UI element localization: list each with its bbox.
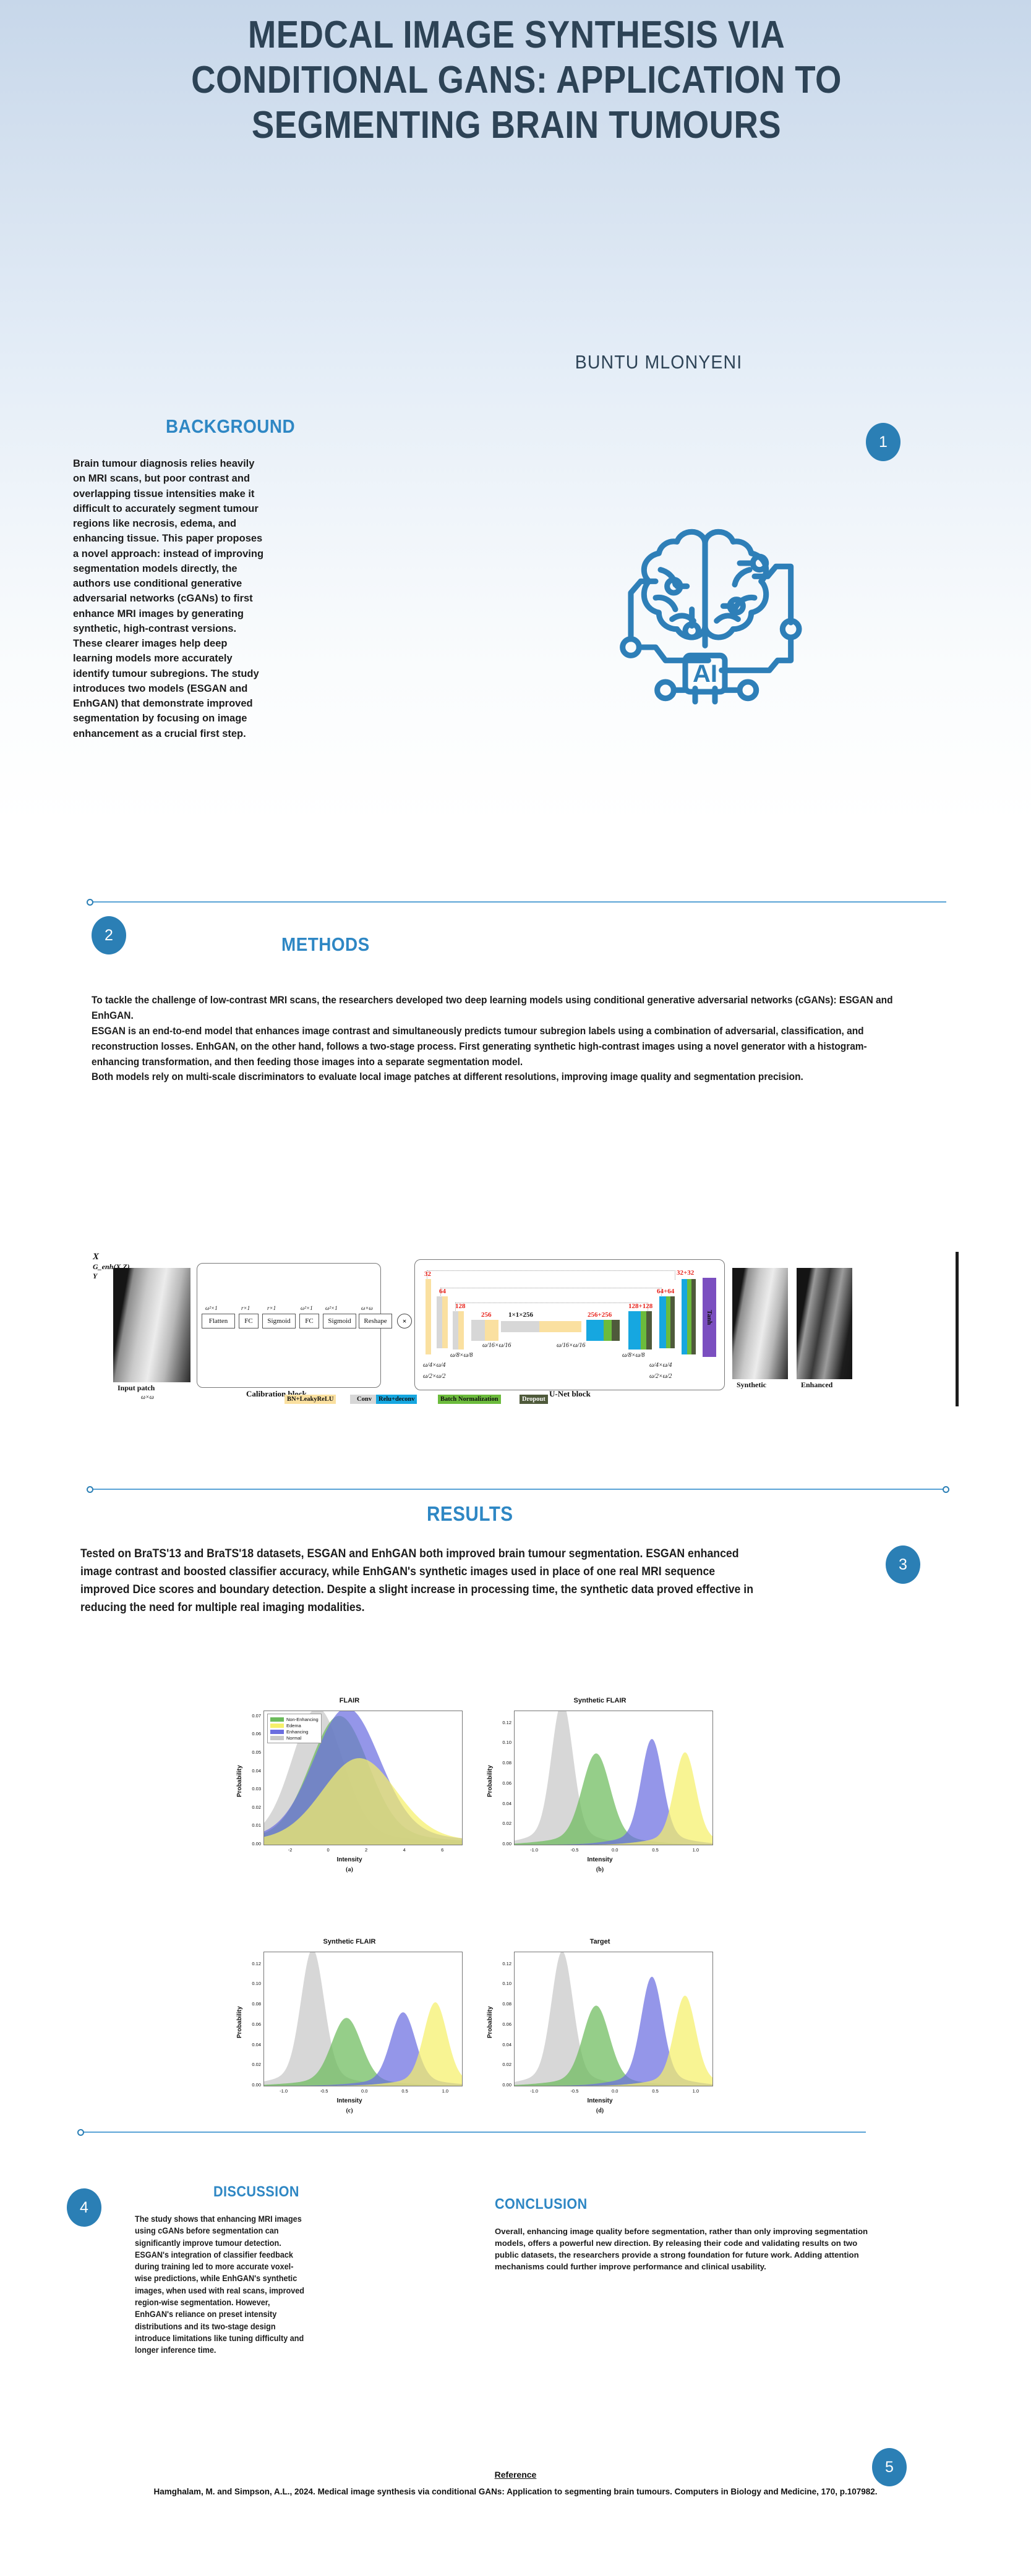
chart-y-tick: 0.08 xyxy=(493,1760,511,1766)
chart-x-tick: 0.0 xyxy=(354,2088,374,2094)
chart-series-layer xyxy=(515,1952,712,2086)
author-name: BUNTU MLONYENI xyxy=(406,351,912,373)
calib-step-sigmoid2: Sigmoid xyxy=(323,1314,356,1328)
multiply-node: × xyxy=(397,1314,412,1328)
section-heading-methods: METHODS xyxy=(281,933,370,956)
legend-dropout: Dropout xyxy=(520,1395,548,1404)
architecture-figure: X Input patch ω×ω ω²×1 Flatten r×1 FC r×… xyxy=(93,1252,959,1406)
legend-batch-normalization: Batch Normalization xyxy=(438,1395,501,1404)
methods-text: To tackle the challenge of low-contrast … xyxy=(92,993,909,1085)
res-label-1: ω/4×ω/4 xyxy=(423,1362,445,1369)
page-title: MEDCAL IMAGE SYNTHESIS VIA CONDITIONAL G… xyxy=(160,12,873,148)
dec-deconv-64 xyxy=(659,1296,666,1348)
legend-bn-leakyrelu: BN+LeakyReLU xyxy=(284,1395,336,1404)
chart-y-tick: 0.08 xyxy=(493,2001,511,2007)
chart-synthetic-flair-c: Synthetic FLAIR0.000.020.040.060.080.100… xyxy=(229,1938,470,2123)
chart-plot-area xyxy=(263,1952,463,2086)
chart-x-axis-label: Intensity xyxy=(479,1856,721,1863)
bottleneck-conv xyxy=(501,1321,539,1332)
methods-paragraph: Both models rely on multi-scale discrimi… xyxy=(92,1069,909,1085)
res-label-0b: ω/2×ω/2 xyxy=(649,1373,672,1380)
figure-input-dim: ω×ω xyxy=(141,1394,154,1401)
chart-series-layer xyxy=(515,1711,712,1845)
chart-x-tick: 1.0 xyxy=(435,2088,455,2094)
bottleneck-bn xyxy=(539,1321,581,1332)
chart-x-tick: 0.0 xyxy=(605,1847,625,1853)
legend-conv: Conv xyxy=(350,1395,379,1404)
chart-y-tick: 0.12 xyxy=(493,1961,511,1966)
res-label-0: ω/2×ω/2 xyxy=(423,1373,445,1380)
chart-y-tick: 0.10 xyxy=(493,1981,511,1986)
section-heading-discussion: DISCUSSION xyxy=(213,2183,299,2201)
chart-x-axis-label: Intensity xyxy=(229,2098,470,2104)
dec-deconv-128 xyxy=(628,1311,641,1350)
calib-step-fc2: FC xyxy=(299,1314,319,1328)
dec-dropout-128 xyxy=(646,1311,652,1350)
chart-x-tick: 0.5 xyxy=(646,1847,665,1853)
chart-y-tick: 0.03 xyxy=(242,1786,261,1792)
chart-y-tick: 0.08 xyxy=(242,2001,261,2007)
chart-legend: Non-EnhancingEdemaEnhancingNormal xyxy=(267,1714,322,1743)
conclusion-text: Overall, enhancing image quality before … xyxy=(495,2225,872,2272)
chart-flair: FLAIR0.000.010.020.030.040.050.060.07-20… xyxy=(229,1697,470,1882)
chart-x-tick: -1.0 xyxy=(274,2088,294,2094)
chart-x-tick: 0 xyxy=(319,1847,338,1853)
enhanced-mri-image xyxy=(797,1268,852,1379)
chart-y-tick: 0.02 xyxy=(242,1804,261,1810)
chart-y-tick: 0.12 xyxy=(493,1720,511,1725)
figure-right-border xyxy=(956,1252,959,1406)
chart-x-tick: 4 xyxy=(395,1847,414,1853)
calib-step-sigmoid1: Sigmoid xyxy=(262,1314,296,1328)
chart-x-tick: 6 xyxy=(432,1847,452,1853)
skip-connection-1 xyxy=(427,1270,675,1280)
section-heading-background: BACKGROUND xyxy=(166,415,295,438)
enc-ch-32: 32 xyxy=(424,1270,431,1278)
poster-canvas: MEDCAL IMAGE SYNTHESIS VIA CONDITIONAL G… xyxy=(0,0,1031,2576)
chart-title: Synthetic FLAIR xyxy=(229,1938,470,1945)
badge-3: 3 xyxy=(886,1545,920,1584)
dec-ch-64: 64+64 xyxy=(657,1288,674,1295)
chart-legend-swatch xyxy=(270,1724,284,1728)
chart-y-tick: 0.04 xyxy=(242,1768,261,1774)
enc-conv-64 xyxy=(437,1296,442,1348)
calib-size-1: r×1 xyxy=(241,1305,250,1311)
svg-text:AI: AI xyxy=(693,660,717,687)
enc-ch-128: 128 xyxy=(455,1303,466,1310)
section-heading-conclusion: CONCLUSION xyxy=(495,2196,588,2213)
chart-y-tick: 0.02 xyxy=(493,1821,511,1826)
background-text: Brain tumour diagnosis relies heavily on… xyxy=(73,456,265,741)
synthetic-mri-image xyxy=(732,1268,788,1379)
calib-step-reshape: Reshape xyxy=(359,1314,392,1328)
chart-legend-label: Edema xyxy=(286,1723,301,1728)
dec-bn-256 xyxy=(604,1320,612,1341)
chart-target: Target0.000.020.040.060.080.100.12-1.0-0… xyxy=(479,1938,721,2123)
chart-x-tick: -0.5 xyxy=(565,2088,584,2094)
chart-y-tick: 0.00 xyxy=(242,1841,261,1847)
dec-dropout-32 xyxy=(691,1279,696,1354)
methods-paragraph: ESGAN is an end-to-end model that enhanc… xyxy=(92,1024,909,1070)
chart-x-tick: -1.0 xyxy=(524,1847,544,1853)
enc-bar-32 xyxy=(426,1279,431,1354)
chart-panel-id: (a) xyxy=(229,1866,470,1873)
input-mri-image xyxy=(113,1268,190,1382)
chart-x-tick: 2 xyxy=(356,1847,376,1853)
enc-conv-256 xyxy=(471,1320,485,1341)
chart-y-tick: 0.00 xyxy=(493,1841,511,1847)
calib-size-3: ω²×1 xyxy=(301,1305,313,1311)
skip-connection-2 xyxy=(440,1288,662,1297)
chart-y-tick: 0.04 xyxy=(493,1801,511,1806)
chart-y-tick: 0.02 xyxy=(242,2062,261,2067)
chart-y-tick: 0.06 xyxy=(242,2021,261,2027)
chart-x-axis-label: Intensity xyxy=(229,1856,470,1863)
calib-size-4: ω²×1 xyxy=(325,1305,338,1311)
chart-x-tick: -2 xyxy=(280,1847,300,1853)
calib-step-fc1: FC xyxy=(239,1314,259,1328)
chart-panel-id: (c) xyxy=(229,2107,470,2114)
chart-legend-swatch xyxy=(270,1730,284,1734)
chart-x-tick: -0.5 xyxy=(565,1847,584,1853)
chart-y-axis-label: Probability xyxy=(236,1765,243,1797)
divider-methods xyxy=(90,901,946,903)
dec-dropout-256 xyxy=(612,1320,620,1341)
dec-dropout-64 xyxy=(670,1296,675,1348)
chart-title: Target xyxy=(479,1938,721,1945)
dec-deconv-256 xyxy=(586,1320,604,1341)
chart-title: FLAIR xyxy=(229,1697,470,1704)
chart-legend-item: Non-Enhancing xyxy=(270,1716,319,1722)
chart-y-tick: 0.02 xyxy=(493,2062,511,2067)
output-caption-enhanced: Enhanced xyxy=(801,1380,832,1390)
chart-panel-id: (b) xyxy=(479,1866,721,1873)
calib-size-2: r×1 xyxy=(267,1305,276,1311)
res-label-2b: ω/8×ω/8 xyxy=(622,1352,644,1359)
chart-legend-label: Normal xyxy=(286,1735,301,1741)
chart-legend-item: Enhancing xyxy=(270,1728,319,1735)
chart-title: Synthetic FLAIR xyxy=(479,1697,721,1704)
chart-x-tick: 1.0 xyxy=(686,2088,706,2094)
ai-brain-icon: AI xyxy=(606,501,804,705)
chart-x-tick: 0.5 xyxy=(646,2088,665,2094)
calib-size-0: ω²×1 xyxy=(205,1305,218,1311)
dec-ch-32: 32+32 xyxy=(677,1269,694,1277)
chart-y-tick: 0.10 xyxy=(493,1740,511,1745)
chart-plot-area xyxy=(514,1952,713,2086)
chart-y-tick: 0.12 xyxy=(242,1961,261,1966)
chart-y-tick: 0.00 xyxy=(493,2082,511,2088)
chart-y-tick: 0.06 xyxy=(493,1780,511,1786)
res-label-2: ω/8×ω/8 xyxy=(450,1352,473,1359)
output-caption-synthetic: Synthetic xyxy=(737,1380,766,1390)
res-label-3: ω/16×ω/16 xyxy=(482,1342,511,1349)
chart-panel-id: (d) xyxy=(479,2107,721,2114)
res-label-3b: ω/16×ω/16 xyxy=(557,1342,585,1349)
chart-y-axis-label: Probability xyxy=(487,1765,494,1797)
chart-legend-item: Normal xyxy=(270,1735,319,1741)
chart-y-tick: 0.06 xyxy=(242,1731,261,1736)
dec-bn-64 xyxy=(666,1296,670,1348)
chart-series-layer xyxy=(264,1952,462,2086)
chart-x-tick: 1.0 xyxy=(686,1847,706,1853)
badge-4: 4 xyxy=(67,2188,101,2227)
badge-1: 1 xyxy=(866,423,901,461)
divider-discussion xyxy=(80,2132,866,2133)
reference-heading: Reference xyxy=(0,2470,1031,2480)
chart-y-tick: 0.04 xyxy=(242,2042,261,2047)
chart-y-axis-label: Probability xyxy=(236,2006,243,2038)
chart-plot-area xyxy=(514,1711,713,1845)
chart-y-tick: 0.04 xyxy=(493,2042,511,2047)
tanh-activation: Tanh xyxy=(703,1278,716,1357)
bottleneck-label: 1×1×256 xyxy=(508,1311,533,1319)
dec-ch-256: 256+256 xyxy=(588,1311,612,1319)
enc-bar-256 xyxy=(485,1320,498,1341)
res-label-1b: ω/4×ω/4 xyxy=(649,1362,672,1369)
chart-synthetic-flair-b: Synthetic FLAIR0.000.020.040.060.080.100… xyxy=(479,1697,721,1882)
dec-bn-128 xyxy=(641,1311,646,1350)
enc-ch-256: 256 xyxy=(481,1311,492,1319)
chart-y-tick: 0.10 xyxy=(242,1981,261,1986)
dec-bn-32 xyxy=(687,1279,691,1354)
badge-2: 2 xyxy=(92,916,126,954)
calib-size-5: ω×ω xyxy=(361,1305,373,1311)
chart-legend-swatch xyxy=(270,1736,284,1740)
chart-legend-item: Edema xyxy=(270,1722,319,1728)
chart-x-tick: 0.0 xyxy=(605,2088,625,2094)
results-text: Tested on BraTS'13 and BraTS'18 datasets… xyxy=(80,1545,765,1617)
enc-conv-128 xyxy=(453,1311,458,1350)
methods-paragraph: To tackle the challenge of low-contrast … xyxy=(92,993,909,1024)
enc-ch-64: 64 xyxy=(439,1288,446,1295)
enc-bar-64 xyxy=(442,1296,448,1348)
chart-legend-label: Enhancing xyxy=(286,1729,308,1735)
chart-y-tick: 0.00 xyxy=(242,2082,261,2088)
calib-step-flatten: Flatten xyxy=(202,1314,235,1328)
chart-x-axis-label: Intensity xyxy=(479,2098,721,2104)
chart-y-tick: 0.06 xyxy=(493,2021,511,2027)
chart-y-tick: 0.07 xyxy=(242,1713,261,1719)
figure-input-label: Input patch xyxy=(118,1384,155,1393)
discussion-text: The study shows that enhancing MRI image… xyxy=(135,2213,307,2357)
chart-x-tick: 0.5 xyxy=(395,2088,415,2094)
chart-y-axis-label: Probability xyxy=(487,2006,494,2038)
reference-citation: Hamghalam, M. and Simpson, A.L., 2024. M… xyxy=(12,2486,1019,2498)
badge-5: 5 xyxy=(872,2448,907,2486)
chart-y-tick: 0.01 xyxy=(242,1822,261,1828)
dec-deconv-32 xyxy=(682,1279,687,1354)
chart-legend-swatch xyxy=(270,1717,284,1722)
chart-x-tick: -0.5 xyxy=(314,2088,334,2094)
unet-block-title: U-Net block xyxy=(549,1389,591,1399)
dec-ch-128: 128+128 xyxy=(628,1303,652,1310)
skip-connection-3 xyxy=(455,1303,648,1312)
section-heading-results: RESULTS xyxy=(427,1502,513,1526)
divider-results xyxy=(90,1489,946,1490)
enc-bar-128 xyxy=(458,1311,464,1350)
chart-y-tick: 0.05 xyxy=(242,1749,261,1755)
legend-relu-deconv: Relu+deconv xyxy=(376,1395,417,1404)
chart-legend-label: Non-Enhancing xyxy=(286,1717,319,1722)
chart-x-tick: -1.0 xyxy=(524,2088,544,2094)
